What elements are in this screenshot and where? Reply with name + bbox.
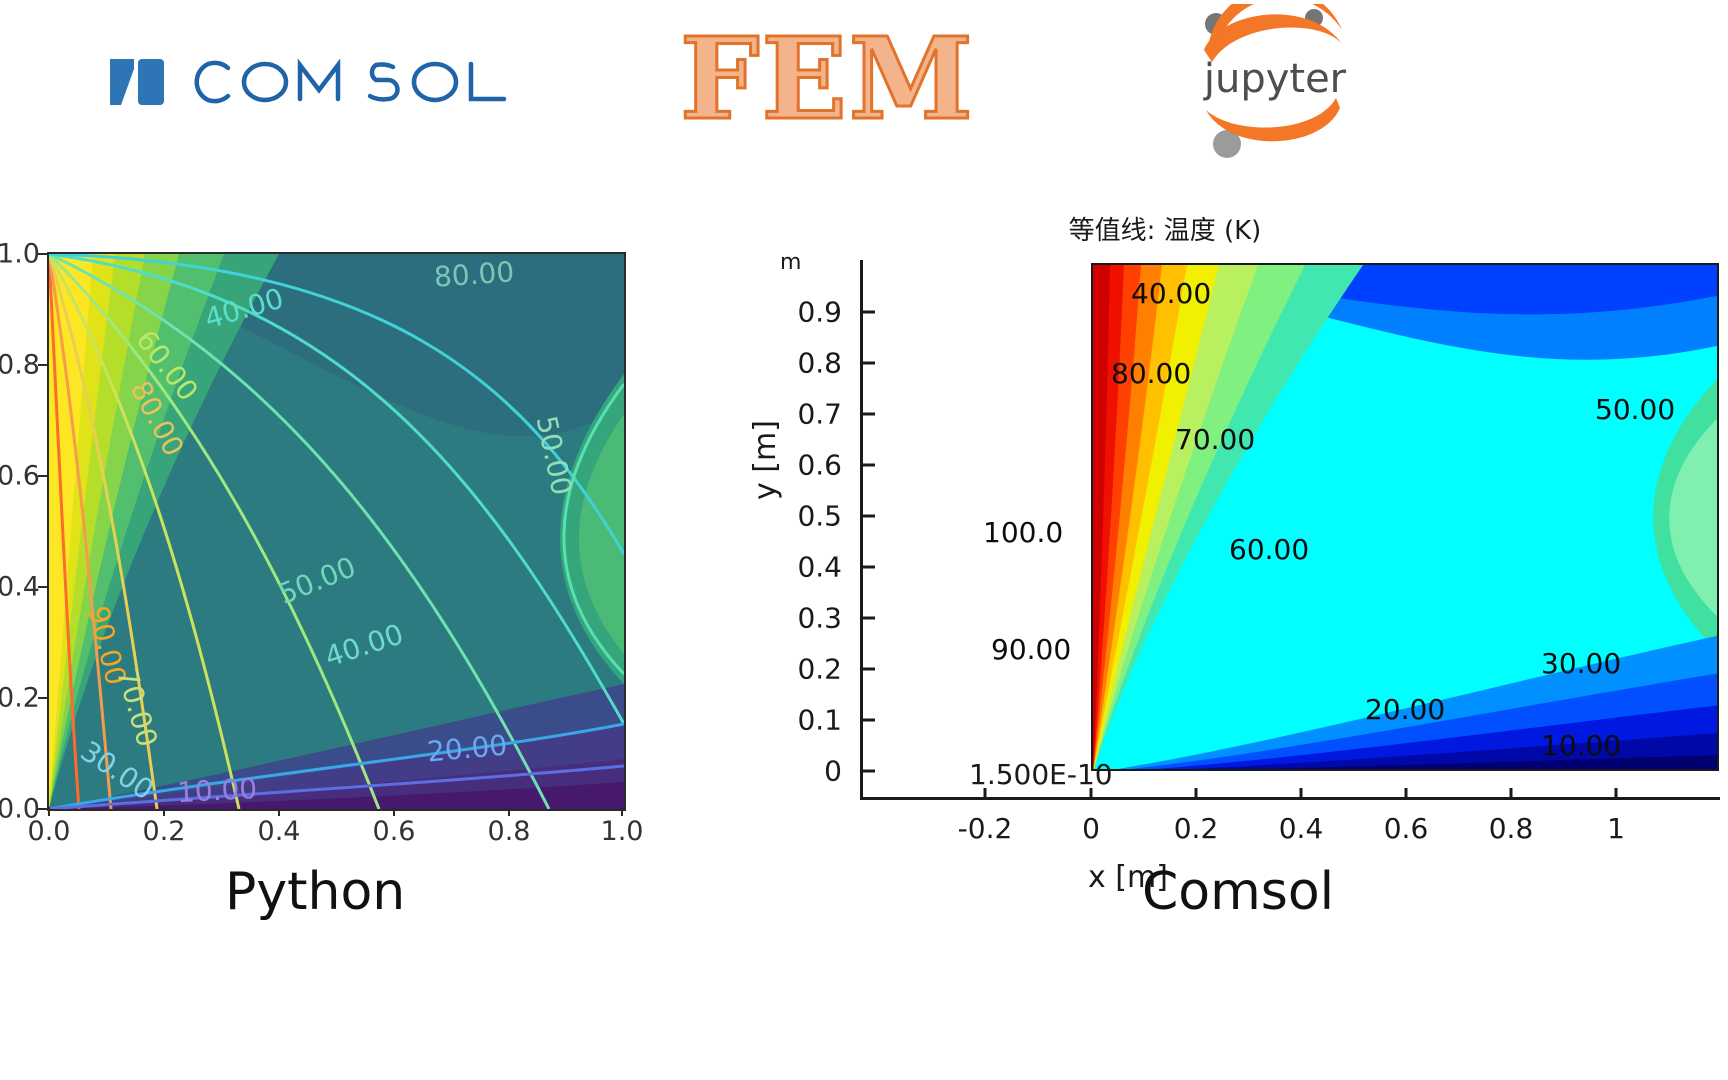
comsol-glyph-icon	[108, 57, 166, 107]
y-tick-label: 0.5	[797, 500, 842, 533]
comsol-unit-label: m	[780, 250, 801, 275]
y-tick-label: 0.1	[797, 704, 842, 737]
x-tick-label: 0	[1082, 812, 1100, 845]
contour-label: 10.00	[1541, 729, 1621, 762]
comsol-plot-title: 等值线: 温度 (K)	[760, 210, 1570, 247]
x-tick-label: 1.0	[601, 816, 644, 847]
python-figure: 80.00 40.00 60.00 90.00 80.00 50.00 50.0…	[0, 232, 680, 852]
y-tick-mark	[863, 770, 875, 773]
y-tick-mark	[863, 464, 875, 467]
y-tick-label: 0.2	[797, 653, 842, 686]
contour-label: 30.00	[1541, 647, 1621, 680]
y-tick-mark	[863, 719, 875, 722]
contour-label: 100.0	[983, 516, 1063, 549]
contour-label: 40.00	[1131, 277, 1211, 310]
y-tick-label: 0.4	[0, 572, 40, 603]
jupyter-logo-icon: jupyter	[1190, 4, 1360, 159]
x-tick-mark	[1300, 788, 1303, 800]
jupyter-wordmark: jupyter	[1203, 56, 1347, 102]
x-tick-label: 0.6	[1384, 812, 1429, 845]
y-tick-mark	[38, 475, 47, 477]
comsol-y-axis-label: y [m]	[748, 420, 783, 500]
origin-value-label: 1.500E-10	[969, 758, 1113, 791]
comsol-contour-plot: 40.00 80.00 70.00 50.00 60.00 30.00 20.0…	[1091, 263, 1719, 771]
y-tick-label: 0.8	[0, 350, 40, 381]
y-tick-mark	[38, 697, 47, 699]
x-tick-mark	[163, 807, 165, 816]
x-tick-label: 1	[1607, 812, 1625, 845]
logo-row: FEM jupyter	[0, 0, 1728, 180]
contour-label: 90.00	[991, 633, 1071, 666]
contour-label: 60.00	[1229, 533, 1309, 566]
y-tick-mark	[863, 515, 875, 518]
y-tick-mark	[38, 364, 47, 366]
x-tick-label: 0.4	[1279, 812, 1324, 845]
y-tick-mark	[863, 362, 875, 365]
x-tick-label: 0.8	[488, 816, 531, 847]
x-tick-mark	[1510, 788, 1513, 800]
python-caption: Python	[225, 862, 405, 922]
y-tick-label: 0.2	[0, 683, 40, 714]
comsol-axes: 0.9 0.8 0.7 0.6 0.5 0.4 0.3 0.2 0.1 0 -0…	[860, 260, 1720, 800]
y-tick-label: 0.6	[797, 449, 842, 482]
x-tick-label: 0.8	[1489, 812, 1534, 845]
contour-label: 80.00	[433, 255, 515, 294]
x-tick-label: -0.2	[958, 812, 1013, 845]
y-tick-mark	[38, 808, 47, 810]
y-tick-mark	[863, 311, 875, 314]
y-tick-mark	[863, 617, 875, 620]
contour-label: 50.00	[1595, 393, 1675, 426]
x-tick-label: 0.6	[373, 816, 416, 847]
comsol-wordmark-icon	[182, 52, 582, 112]
x-tick-mark	[393, 807, 395, 816]
x-tick-label: 0.0	[28, 816, 71, 847]
x-tick-label: 0.4	[258, 816, 301, 847]
contour-label: 70.00	[1175, 423, 1255, 456]
x-tick-mark	[1615, 788, 1618, 800]
contour-label: 10.00	[176, 772, 258, 809]
x-tick-mark	[278, 807, 280, 816]
y-tick-label: 0	[824, 755, 842, 788]
contour-label: 20.00	[426, 729, 509, 769]
x-tick-label: 0.2	[1174, 812, 1219, 845]
x-tick-mark	[508, 807, 510, 816]
comsol-figure: 等值线: 温度 (K) m y [m] x [m] 0.9 0.8 0.7 0.…	[760, 200, 1728, 860]
y-tick-label: 0.6	[0, 461, 40, 492]
jupyter-logo: jupyter	[1190, 4, 1360, 159]
python-contour-plot: 80.00 40.00 60.00 90.00 80.00 50.00 50.0…	[47, 252, 626, 811]
y-tick-label: 0.7	[797, 398, 842, 431]
y-tick-label: 0.9	[797, 296, 842, 329]
y-tick-mark	[863, 413, 875, 416]
comsol-caption: Comsol	[1142, 862, 1334, 922]
y-tick-label: 0.8	[797, 347, 842, 380]
contour-label: 80.00	[1111, 357, 1191, 390]
comsol-logo	[108, 52, 582, 112]
y-tick-label: 0.3	[797, 602, 842, 635]
x-tick-label: 0.2	[143, 816, 186, 847]
y-tick-mark	[38, 253, 47, 255]
x-tick-mark	[1405, 788, 1408, 800]
fem-logo: FEM	[680, 18, 975, 141]
x-tick-mark	[1195, 788, 1198, 800]
x-tick-mark	[621, 807, 623, 816]
y-tick-mark	[38, 586, 47, 588]
y-tick-mark	[863, 668, 875, 671]
y-tick-label: 1.0	[0, 239, 40, 270]
contour-label: 20.00	[1365, 693, 1445, 726]
comsol-mark-icon	[108, 57, 166, 107]
y-tick-mark	[863, 566, 875, 569]
x-tick-mark	[48, 807, 50, 816]
y-tick-label: 0.4	[797, 551, 842, 584]
